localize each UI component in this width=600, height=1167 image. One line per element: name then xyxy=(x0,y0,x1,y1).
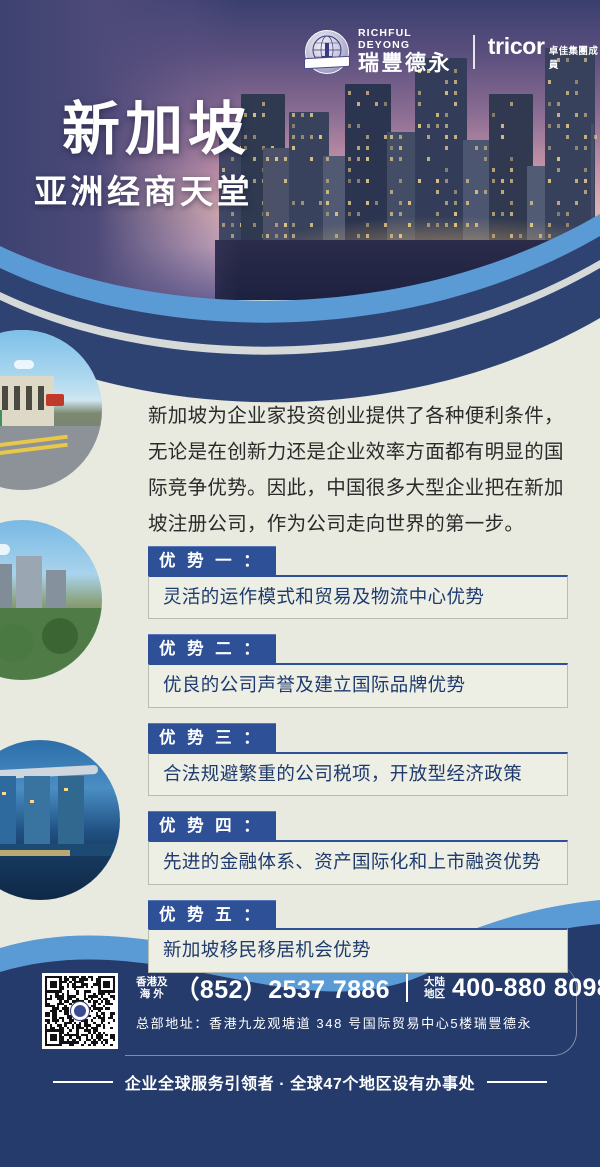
advantage-item-1: 优 势 一 ： 灵活的运作模式和贸易及物流中心优势 xyxy=(148,546,568,619)
advantage-text-3: 合法规避繁重的公司税项，开放型经济政策 xyxy=(148,752,568,797)
hero-subtitle: 亚洲经商天堂 xyxy=(34,165,253,213)
advantage-text-1: 灵活的运作模式和贸易及物流中心优势 xyxy=(148,575,568,620)
slogan-rule-right xyxy=(487,1081,547,1083)
advantage-label-5: 优 势 五 ： xyxy=(148,900,276,930)
head-office-address: 总部地址：香港九龙观塘道 348 号国际贸易中心5楼瑞豐德永 xyxy=(136,1013,580,1032)
advantage-label-4: 优 势 四 ： xyxy=(148,811,276,841)
advantage-item-5: 优 势 五 ： 新加坡移民移居机会优势 xyxy=(148,900,568,973)
hero-waterfront xyxy=(215,240,600,300)
intro-paragraph: 新加坡为企业家投资创业提供了各种便利条件，无论是在创新力还是企业效率方面都有明显… xyxy=(148,398,568,542)
brand-logo: RICHFUL DEYONG 瑞豐德永 tricor 卓佳集團成員 xyxy=(305,28,600,76)
hero-title: 新加坡 xyxy=(62,82,251,166)
advantage-label-2: 优 势 二 ： xyxy=(148,634,276,664)
advantage-label-1: 优 势 一 ： xyxy=(148,546,276,576)
advantage-item-2: 优 势 二 ： 优良的公司声誉及建立国际品牌优势 xyxy=(148,634,568,707)
partner-note: 卓佳集團成員 xyxy=(549,43,600,71)
advantage-item-3: 优 势 三 ： 合法规避繁重的公司税项，开放型经济政策 xyxy=(148,723,568,796)
advantage-label-3: 优 势 三 ： xyxy=(148,723,276,753)
partner-name: tricor xyxy=(488,33,545,60)
brand-en-name: RICHFUL DEYONG xyxy=(358,28,460,51)
qr-code-icon[interactable] xyxy=(42,973,118,1049)
slogan-row: 企业全球服务引领者 · 全球47个地区设有办事处 xyxy=(0,1070,600,1094)
marina-bay-sands-photo xyxy=(0,740,120,900)
crest-emblem-icon xyxy=(305,30,349,74)
advantage-text-4: 先进的金融体系、资产国际化和上市融资优势 xyxy=(148,840,568,885)
brand-cn-name: 瑞豐德永 xyxy=(358,52,460,76)
advantages-list: 优 势 一 ： 灵活的运作模式和贸易及物流中心优势 优 势 二 ： 优良的公司声… xyxy=(148,546,568,988)
slogan-rule-left xyxy=(53,1081,113,1083)
poster-root: RICHFUL DEYONG 瑞豐德永 tricor 卓佳集團成員 新加坡 亚洲… xyxy=(0,0,600,1167)
advantage-text-2: 优良的公司声誉及建立国际品牌优势 xyxy=(148,663,568,708)
singapore-city-greenery-photo xyxy=(0,520,102,680)
logo-divider xyxy=(473,35,474,69)
qr-center-logo xyxy=(70,1001,90,1021)
slogan-text: 企业全球服务引领者 · 全球47个地区设有办事处 xyxy=(125,1070,475,1094)
singapore-shophouse-street-photo xyxy=(0,330,102,490)
advantage-item-4: 优 势 四 ： 先进的金融体系、资产国际化和上市融资优势 xyxy=(148,811,568,884)
advantage-text-5: 新加坡移民移居机会优势 xyxy=(148,928,568,973)
